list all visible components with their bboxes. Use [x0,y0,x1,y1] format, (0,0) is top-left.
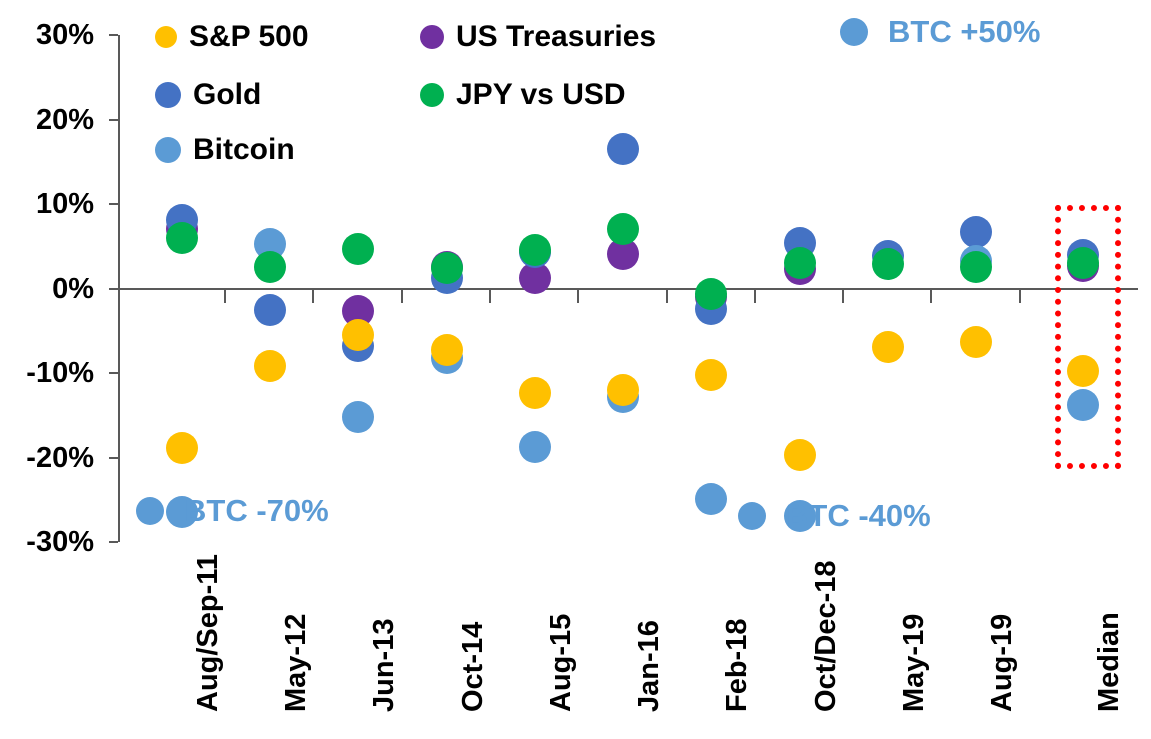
x-axis-tick-label: Aug-19 [988,614,1017,712]
data-point [254,294,286,326]
data-point [431,334,463,366]
data-point [431,252,463,284]
y-axis-tick [109,541,118,543]
data-point [784,439,816,471]
data-point [784,247,816,279]
data-point [695,483,727,515]
y-axis-tick-label: -10% [0,359,94,388]
x-axis-tick-label: Oct-14 [459,622,488,712]
x-axis-tick [930,290,932,303]
data-point [254,350,286,382]
x-axis-tick [401,290,403,303]
x-axis-tick-label: May-12 [282,614,311,712]
x-axis-tick-label: Median [1095,612,1124,712]
btc-minus-70: BTC -70% [136,495,329,526]
annotation-label: BTC -40% [786,500,931,531]
y-axis-tick [109,372,118,374]
annotation-dot-icon [840,18,868,46]
plot-area: 30%20%10%0%-10%-20%-30% Aug/Sep-11May-12… [118,35,1138,542]
x-axis-tick [224,290,226,303]
y-axis-tick-label: 0% [0,275,94,304]
x-axis-tick [312,290,314,303]
data-point [342,233,374,265]
data-point [695,359,727,391]
y-axis-tick-label: -20% [0,444,94,473]
x-axis-tick [666,290,668,303]
data-point [872,248,904,280]
x-axis-tick-label: Aug-15 [547,614,576,712]
data-point [166,222,198,254]
annotation-label: BTC +50% [888,16,1040,47]
data-point [166,432,198,464]
x-axis-tick [842,290,844,303]
x-axis-tick [577,290,579,303]
annotation-label: BTC -70% [184,495,329,526]
data-point [695,278,727,310]
x-axis-tick [1019,290,1021,303]
data-point [254,251,286,283]
y-axis-tick [109,457,118,459]
y-axis-tick-label: 10% [0,190,94,219]
y-axis-tick-label: 30% [0,21,94,50]
y-axis-tick-label: 20% [0,106,94,135]
x-axis-tick-label: Oct/Dec-18 [812,560,841,712]
annotation-dot-icon [136,497,164,525]
x-axis-tick-label: Feb-18 [723,619,752,712]
data-point [872,331,904,363]
data-point [960,251,992,283]
btc-plus-50: BTC +50% [840,16,1040,47]
x-axis-tick-label: Jun-13 [370,619,399,712]
x-axis-tick [754,290,756,303]
x-axis-tick [489,290,491,303]
x-axis-zero-line [118,288,1138,290]
scatter-chart: 30%20%10%0%-10%-20%-30% Aug/Sep-11May-12… [0,0,1151,739]
data-point [342,319,374,351]
data-point [607,133,639,165]
data-point [342,401,374,433]
y-axis-tick [109,203,118,205]
y-axis-tick-label: -30% [0,528,94,557]
median-highlight-box [1055,205,1121,469]
data-point [960,326,992,358]
data-point [960,216,992,248]
y-axis-tick [109,34,118,36]
btc-minus-40: BTC -40% [738,500,931,531]
data-point [607,374,639,406]
y-axis-tick [109,119,118,121]
annotation-dot-icon [738,502,766,530]
x-axis-tick-label: Aug/Sep-11 [194,554,223,712]
data-point [519,377,551,409]
data-point [519,431,551,463]
data-point [607,213,639,245]
y-axis-tick [109,288,118,290]
x-axis-tick-label: Jan-16 [635,620,664,712]
x-axis-tick-label: May-19 [900,614,929,712]
